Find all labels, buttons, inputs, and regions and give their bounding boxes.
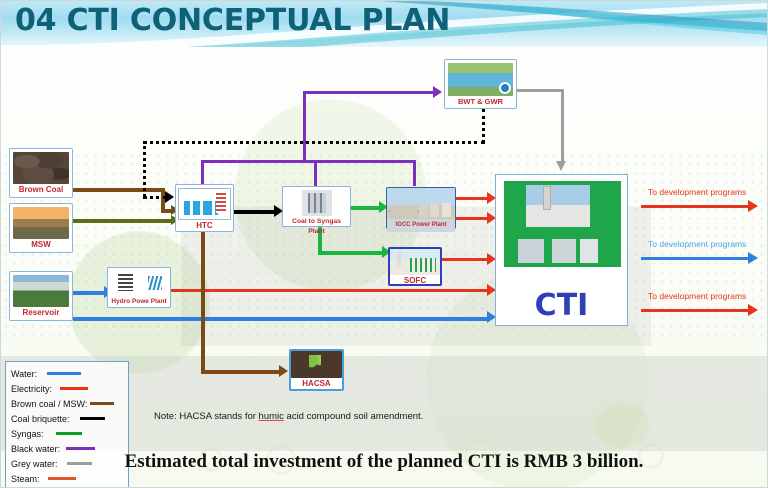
line-purple-igcc-riser — [413, 160, 416, 186]
node-msw[interactable]: MSW — [9, 203, 73, 253]
node-brown-coal[interactable]: Brown Coal — [9, 148, 73, 198]
node-hacsa[interactable]: HACSA — [289, 349, 344, 391]
line-reservoir-to-hydro — [73, 291, 107, 295]
legend-item: Electricity: — [11, 381, 123, 396]
legend-item: Brown coal / MSW: — [11, 396, 123, 411]
node-igcc-power-plant[interactable]: IGCC Power Plant — [386, 187, 456, 229]
line-sofc-electricity — [441, 258, 490, 261]
legend-item: Coal briquette: — [11, 411, 123, 426]
igcc-thumbnail — [387, 188, 455, 219]
line-output-2 — [641, 257, 751, 260]
slide-header: 04 CTI CONCEPTUAL PLAN — [1, 1, 768, 47]
node-label-bwt-gwr: BWT & GWR — [445, 96, 516, 109]
arrowhead-output-1 — [748, 200, 758, 212]
arrowhead-htc-hacsa — [279, 365, 288, 377]
node-hydro-power-plant[interactable]: Hydro Powe Plant — [107, 267, 171, 308]
hacsa-thumbnail — [291, 351, 342, 378]
node-bwt-gwr[interactable]: BWT & GWR — [444, 59, 517, 109]
arrowhead-purple-bwt — [433, 86, 442, 98]
node-label-brown-coal: Brown Coal — [10, 184, 72, 197]
line-bwt-dotted-drop — [143, 141, 146, 197]
line-igcc-electricity-1 — [456, 197, 490, 200]
line-purple-bus — [201, 160, 416, 163]
bwt-gwr-thumbnail — [448, 63, 513, 96]
slide-canvas: 04 CTI CONCEPTUAL PLAN — [0, 0, 768, 488]
legend-label-syngas: Syngas: — [11, 429, 44, 439]
hydro-power-plant-thumbnail — [111, 271, 167, 296]
line-htc-to-hacsa-down — [201, 232, 205, 372]
arrowhead-output-2 — [748, 252, 758, 264]
node-sofc[interactable]: SOFC — [388, 247, 442, 286]
line-msw-to-htc — [73, 219, 173, 223]
line-bwt-dotted-down — [482, 109, 485, 143]
sofc-thumbnail — [390, 249, 440, 275]
legend-item: Steam: — [11, 471, 123, 486]
line-bwt-dotted-left — [143, 141, 485, 144]
footnote-suffix: acid compound soil amendment. — [284, 411, 423, 422]
footnote-prefix: Note: HACSA stands for — [154, 411, 259, 422]
node-label-sofc: SOFC — [390, 275, 440, 288]
arrowhead-bwt-htc — [165, 191, 174, 203]
legend-swatch-electricity — [60, 387, 88, 390]
output-label-1: To development programs — [648, 187, 746, 197]
line-output-1 — [641, 205, 751, 208]
node-coal-to-syngas-plant[interactable]: Coal to Syngas Plant — [282, 186, 351, 227]
output-label-2: To development programs — [648, 239, 746, 249]
line-igcc-electricity-2 — [456, 217, 490, 220]
line-htc-to-hacsa-right — [201, 370, 281, 374]
cti-photo-upper — [526, 185, 590, 227]
line-syngas-to-sofc — [318, 251, 384, 255]
legend-swatch-brown-coal-msw — [90, 402, 114, 405]
line-bwt-dotted-into-htc — [143, 196, 167, 199]
output-label-3: To development programs — [648, 291, 746, 301]
line-purple-htc-riser — [201, 160, 204, 186]
node-label-htc: HTC — [176, 220, 233, 233]
page-title: 04 CTI CONCEPTUAL PLAN — [15, 3, 450, 38]
footnote-underlined: humic — [259, 411, 284, 422]
legend-label-brown-coal-msw: Brown coal / MSW: — [11, 399, 87, 409]
legend-swatch-black-water — [66, 447, 95, 450]
legend-label-electricity: Electricity: — [11, 384, 52, 394]
node-label-igcc-power-plant: IGCC Power Plant — [387, 219, 455, 232]
node-label-coal-to-syngas-plant: Coal to Syngas Plant — [283, 216, 350, 239]
legend-label-steam: Steam: — [11, 474, 40, 484]
line-output-3 — [641, 309, 751, 312]
node-reservoir[interactable]: Reservoir — [9, 271, 73, 321]
investment-headline: Estimated total investment of the planne… — [1, 451, 767, 473]
node-label-hacsa: HACSA — [291, 378, 342, 391]
node-cti[interactable]: CTI — [495, 174, 628, 326]
arrowhead-grey-cti — [556, 161, 566, 171]
legend-swatch-coal-briquette — [80, 417, 105, 420]
line-htc-to-syngas — [234, 210, 276, 214]
node-htc[interactable]: HTC — [175, 184, 234, 232]
footnote: Note: HACSA stands for humic acid compou… — [154, 411, 423, 422]
msw-thumbnail — [13, 207, 69, 239]
legend-swatch-syngas — [56, 432, 82, 435]
node-label-cti: CTI — [496, 289, 627, 323]
legend-item: Water: — [11, 366, 123, 381]
legend-item: Syngas: — [11, 426, 123, 441]
legend-swatch-steam — [48, 477, 76, 480]
node-label-msw: MSW — [10, 239, 72, 252]
line-syngas-to-igcc — [351, 206, 381, 210]
legend-label-water: Water: — [11, 369, 37, 379]
coal-to-syngas-thumbnail — [302, 190, 332, 216]
brown-coal-thumbnail — [13, 152, 69, 184]
node-label-reservoir: Reservoir — [10, 307, 72, 320]
line-hydro-electricity-to-cti — [171, 289, 490, 292]
line-brown-coal-to-htc — [73, 188, 163, 192]
cti-thumbnail — [504, 181, 621, 267]
line-purple-syngas-riser — [314, 160, 317, 186]
line-reservoir-water-to-cti — [73, 317, 490, 321]
line-grey-down-to-cti — [561, 89, 564, 163]
line-purple-riser-to-bwt — [303, 91, 306, 163]
cti-photo-lower — [518, 239, 598, 263]
legend-swatch-water — [47, 372, 81, 375]
arrowhead-output-3 — [748, 304, 758, 316]
reservoir-thumbnail — [13, 275, 69, 307]
htc-thumbnail — [178, 188, 231, 220]
node-label-hydro-power-plant: Hydro Powe Plant — [108, 296, 170, 309]
legend-label-coal-briquette: Coal briquette: — [11, 414, 70, 424]
line-purple-to-bwt — [303, 91, 436, 94]
line-grey-from-bwt — [517, 89, 563, 92]
